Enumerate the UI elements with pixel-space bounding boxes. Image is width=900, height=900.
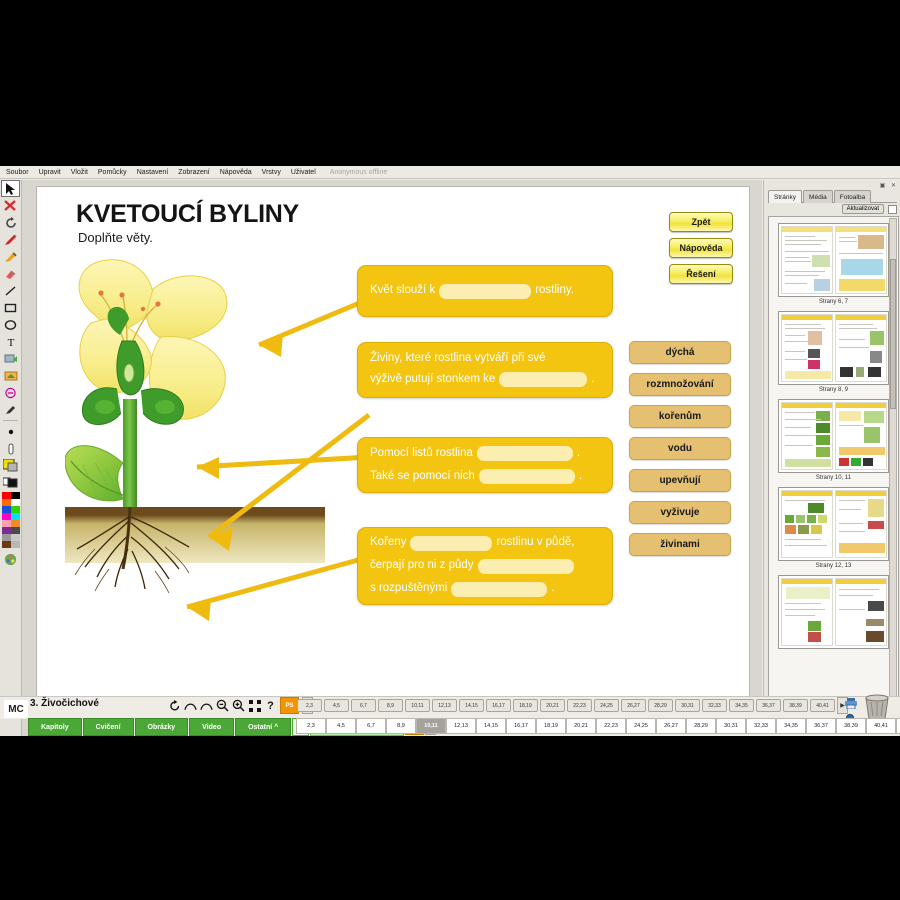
color-swatch [11, 506, 20, 513]
color-swatch [11, 499, 20, 506]
color-swatch [11, 492, 20, 499]
sentence-box-flower[interactable]: Květ slouží k rostliny. [357, 265, 613, 317]
user-status-label: Anonymous offline [330, 169, 387, 176]
color-swatch [2, 520, 11, 527]
page-pair-bottom-active[interactable]: 10,11 [416, 718, 446, 734]
word-chip-dycha[interactable]: dýchá [629, 341, 731, 364]
sentence-text: Živiny, které rostlina vytváří při své [370, 353, 546, 365]
page-pair-top[interactable]: 38,39 [783, 699, 808, 712]
sentence-box-roots[interactable]: Kořeny rostlinu v půdě, čerpají pro ni z… [357, 527, 613, 605]
refresh-button[interactable]: Aktualizovat [842, 204, 884, 214]
answer-blank[interactable] [477, 446, 573, 461]
chapter-title: 3. Živočichové [30, 698, 99, 709]
page-pair-bottom[interactable]: 42,43 [896, 718, 900, 734]
page-pair-bottom[interactable]: 24,25 [626, 718, 656, 734]
answer-blank[interactable] [499, 372, 587, 387]
category-bar: Kapitoly Cvičení Obrázky Video Ostatní ^… [28, 718, 900, 736]
sentence-line: Živiny, které rostlina vytváří při své [370, 353, 600, 365]
page-pair-top[interactable]: 22,23 [567, 699, 592, 712]
answer-blank[interactable] [410, 536, 492, 551]
menu-item-napoveda[interactable]: Nápověda [220, 169, 252, 176]
category-kapitoly[interactable]: Kapitoly [28, 718, 82, 736]
stroke-fill-swatch[interactable] [1, 474, 20, 491]
menu-item-pomucky[interactable]: Pomůcky [98, 169, 127, 176]
svg-text:T: T [7, 337, 14, 348]
page-pair-bottom[interactable]: 4,5 [326, 718, 356, 734]
marker-tool[interactable] [1, 248, 20, 265]
page-subtitle: Doplňte věty. [78, 230, 153, 245]
line-width-tool[interactable] [1, 440, 20, 457]
page-pair-top[interactable]: 36,37 [756, 699, 781, 712]
sentence-box-nutrients[interactable]: Živiny, které rostlina vytváří při své v… [357, 342, 613, 398]
answer-blank[interactable] [439, 284, 531, 299]
thumbnail-item[interactable]: Strany 6, 7 [778, 223, 889, 305]
sentence-text: . [591, 374, 594, 386]
sentence-text: čerpají pro ni z půdy [370, 560, 474, 572]
sentence-text: Pomocí listů rostlina [370, 448, 473, 460]
page-pair-bottom[interactable]: 34,35 [776, 718, 806, 734]
app-logo: MC [4, 700, 28, 718]
tab-stranky[interactable]: Stránky [768, 190, 802, 203]
sentence-text: Kořeny [370, 537, 406, 549]
line-tool[interactable] [1, 282, 20, 299]
page-pairs-bottom: 2,3 4,5 6,7 8,9 10,11 12,13 14,15 16,17 … [296, 718, 900, 735]
menu-item-zobrazeni[interactable]: Zobrazení [178, 169, 210, 176]
page-pair-top[interactable]: 6,7 [351, 699, 376, 712]
hint-button[interactable]: Nápověda [669, 238, 733, 258]
select-arrow-tool[interactable] [1, 180, 20, 197]
insert-shape-tool[interactable] [1, 367, 20, 384]
answer-blank[interactable] [451, 582, 547, 597]
refresh-row: Aktualizovat [842, 204, 897, 214]
trash-bin-icon[interactable] [862, 694, 892, 720]
page-pair-top[interactable]: 2,3 [297, 699, 322, 712]
sentence-line: Také se pomocí nich . [370, 469, 600, 484]
zoom-out-icon[interactable] [216, 699, 229, 712]
sentence-line: Pomocí listů rostlina . [370, 446, 600, 461]
category-obrazky[interactable]: Obrázky [135, 718, 189, 736]
page-pair-bottom[interactable]: 20,21 [566, 718, 596, 734]
thumbnail-image[interactable] [778, 311, 889, 385]
page-pair-bottom[interactable]: 40,41 [866, 718, 896, 734]
page-pair-top[interactable]: 24,25 [594, 699, 619, 712]
thumbnail-image[interactable] [778, 575, 889, 649]
color-swatch [11, 513, 20, 520]
color-swatch [11, 534, 20, 541]
page-pair-top[interactable]: 16,17 [486, 699, 511, 712]
color-swatch [2, 492, 11, 499]
slide-page: KVETOUCÍ BYLINY Doplňte věty. [36, 186, 750, 706]
word-chip-korenum[interactable]: kořenům [629, 405, 731, 428]
thumbnail-label: Strany 12, 13 [778, 563, 889, 569]
help-icon[interactable]: ? [264, 699, 277, 712]
page-pair-bottom[interactable]: 30,31 [716, 718, 746, 734]
canvas-area: KVETOUCÍ BYLINY Doplňte věty. [22, 180, 762, 736]
thumbnail-item[interactable]: Strany 12, 13 [778, 487, 889, 569]
page-pair-bottom[interactable]: 38,39 [836, 718, 866, 734]
thumbnail-label: Strany 8, 9 [778, 387, 889, 393]
page-pair-top[interactable]: 18,19 [513, 699, 538, 712]
insert-image-tool[interactable] [1, 350, 20, 367]
page-pair-top[interactable]: 40,41 [810, 699, 835, 712]
page-pair-top[interactable]: 12,13 [432, 699, 457, 712]
scrollbar-thumb[interactable] [890, 259, 896, 409]
color-wheel-icon[interactable] [1, 551, 20, 568]
tab-media[interactable]: Média [803, 190, 833, 203]
sentence-text: rostlinu v půdě, [496, 537, 574, 549]
menu-bar: Soubor Upravit Vložit Pomůcky Nastavení … [0, 166, 900, 179]
delete-x-tool[interactable] [1, 197, 20, 214]
thumbnail-label: Strany 10, 11 [778, 475, 889, 481]
answer-blank[interactable] [478, 559, 574, 574]
slide-action-buttons: Zpět Nápověda Řešení [669, 212, 733, 290]
page-pair-bottom[interactable]: 36,37 [806, 718, 836, 734]
text-tool[interactable]: T [1, 333, 20, 350]
color-swatch [11, 520, 20, 527]
menu-item-uzivatel[interactable]: Uživatel [291, 169, 316, 176]
page-pair-bottom[interactable]: 2,3 [296, 718, 326, 734]
color-swatch [2, 513, 11, 520]
tool-palette: T [0, 180, 22, 736]
menu-item-nastaveni[interactable]: Nastavení [137, 169, 169, 176]
page-pair-top[interactable]: 32,33 [702, 699, 727, 712]
sentence-text: výživě putují stonkem ke [370, 374, 495, 386]
menu-item-vrstvy[interactable]: Vrstvy [262, 169, 281, 176]
color-swatch [2, 541, 11, 548]
sentence-line: Kořeny rostlinu v půdě, [370, 536, 600, 551]
ellipse-tool[interactable] [1, 316, 20, 333]
sentence-text: . [551, 583, 554, 595]
sentence-text: s rozpuštěnými [370, 583, 447, 595]
page-pair-bottom[interactable]: 22,23 [596, 718, 626, 734]
sentence-text: Květ slouží k [370, 285, 435, 297]
page-pairs-top: 2,3 4,5 6,7 8,9 10,11 12,13 14,15 16,17 … [297, 697, 848, 714]
page-pair-top[interactable]: 20,21 [540, 699, 565, 712]
page-pair-bottom[interactable]: 12,13 [446, 718, 476, 734]
pages-panel: ▣ ✕ Stránky Média Fotoalba Aktualizovat [763, 180, 900, 736]
page-pair-top[interactable]: 28,29 [648, 699, 673, 712]
page-pair-bottom[interactable]: 32,33 [746, 718, 776, 734]
page-pair-top[interactable]: 26,27 [621, 699, 646, 712]
thumbnail-item[interactable]: Strany 10, 11 [778, 399, 889, 481]
menu-item-upravit[interactable]: Upravit [39, 169, 61, 176]
application-window: Soubor Upravit Vložit Pomůcky Nastavení … [0, 166, 900, 736]
thumbnail-item[interactable] [778, 575, 889, 649]
thumbnail-image[interactable] [778, 223, 889, 297]
undo-rotate-tool[interactable] [1, 214, 20, 231]
page-pair-top[interactable]: 8,9 [378, 699, 403, 712]
solution-button[interactable]: Řešení [669, 264, 733, 284]
page-pair-top[interactable]: 10,11 [405, 699, 430, 712]
panel-tabs: Stránky Média Fotoalba [768, 190, 897, 203]
page-title: KVETOUCÍ BYLINY [76, 200, 299, 229]
rotate-icon[interactable] [168, 699, 181, 712]
sentence-line: Květ slouží k rostliny. [370, 284, 600, 299]
tab-fotoalba[interactable]: Fotoalba [834, 190, 871, 203]
canvas-tools: ? PS ◀ [168, 697, 313, 714]
word-chip-vodu[interactable]: vodu [629, 437, 731, 460]
sentence-text: . [579, 471, 582, 483]
flowering-plant-illustration [65, 249, 325, 609]
color-swatch [2, 506, 11, 513]
page-pair-bottom[interactable]: 14,15 [476, 718, 506, 734]
page-pair-bottom[interactable]: 28,29 [686, 718, 716, 734]
tool-divider [3, 420, 18, 421]
menu-item-soubor[interactable]: Soubor [6, 169, 29, 176]
page-pair-top[interactable]: 34,35 [729, 699, 754, 712]
sentence-line: výživě putují stonkem ke . [370, 372, 600, 387]
back-button[interactable]: Zpět [669, 212, 733, 232]
panel-window-controls[interactable]: ▣ ✕ [880, 182, 898, 189]
color-swatch [2, 527, 11, 534]
page-pair-bottom[interactable]: 18,19 [536, 718, 566, 734]
eraser-tool[interactable] [1, 265, 20, 282]
thumbnail-label: Strany 6, 7 [778, 299, 889, 305]
zoom-in-icon[interactable] [232, 699, 245, 712]
word-chip-rozmnozovani[interactable]: rozmnožování [629, 373, 731, 396]
page-pair-bottom[interactable]: 6,7 [356, 718, 386, 734]
curve-right-icon[interactable] [200, 699, 213, 712]
pen-tool[interactable] [1, 231, 20, 248]
menu-item-vlozit[interactable]: Vložit [71, 169, 88, 176]
category-video[interactable]: Video [189, 718, 234, 736]
category-ostatni[interactable]: Ostatní ^ [235, 718, 291, 736]
sentence-text: . [577, 448, 580, 460]
auto-refresh-checkbox[interactable] [888, 205, 897, 214]
word-chip-zivinami[interactable]: živinami [629, 533, 731, 556]
page-pair-bottom[interactable]: 16,17 [506, 718, 536, 734]
panel-scrollbar[interactable] [889, 218, 897, 728]
fullscreen-icon[interactable] [248, 699, 261, 712]
sentence-line: čerpají pro ni z půdy [370, 559, 600, 574]
clone-tool[interactable] [1, 384, 20, 401]
eyedropper-tool[interactable] [1, 401, 20, 418]
color-swatch [2, 499, 11, 506]
color-swatch [2, 534, 11, 541]
thumbnail-image[interactable] [778, 399, 889, 473]
page-pair-bottom[interactable]: 26,27 [656, 718, 686, 734]
color-swatch [11, 541, 20, 548]
sentence-text: rostliny. [535, 285, 574, 297]
page-pair-top[interactable]: 4,5 [324, 699, 349, 712]
sentence-line: s rozpuštěnými . [370, 582, 600, 597]
dot-size-tool[interactable] [1, 423, 20, 440]
current-color-swatch[interactable] [1, 457, 20, 474]
sentence-text: Také se pomocí nich [370, 471, 475, 483]
word-chip-vyzivuje[interactable]: vyživuje [629, 501, 731, 524]
word-chip-upevnuji[interactable]: upevňují [629, 469, 731, 492]
sentence-box-leaves[interactable]: Pomocí listů rostlina . Také se pomocí n… [357, 437, 613, 493]
color-swatch [11, 527, 20, 534]
thumbnail-list[interactable]: Strany 6, 7 [768, 216, 899, 732]
curve-left-icon[interactable] [184, 699, 197, 712]
category-cviceni[interactable]: Cvičení [83, 718, 134, 736]
page-pair-top[interactable]: 30,31 [675, 699, 700, 712]
rectangle-tool[interactable] [1, 299, 20, 316]
answer-blank[interactable] [479, 469, 575, 484]
thumbnail-item[interactable]: Strany 8, 9 [778, 311, 889, 393]
page-pair-top[interactable]: 14,15 [459, 699, 484, 712]
color-swatch-grid[interactable] [2, 492, 20, 548]
thumbnail-image[interactable] [778, 487, 889, 561]
page-pair-bottom[interactable]: 8,9 [386, 718, 416, 734]
